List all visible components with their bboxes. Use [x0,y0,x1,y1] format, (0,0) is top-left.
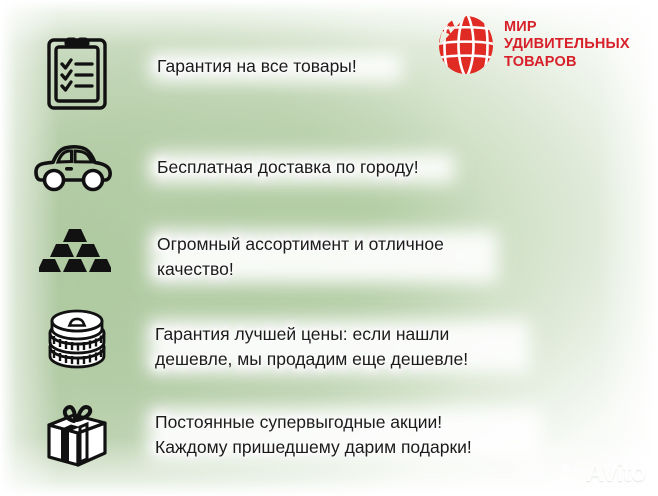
logo-line-1: МИР [504,19,630,37]
promo-banner: МИР УДИВИТЕЛЬНЫХ ТОВАРОВ Гарантия на все… [0,0,658,496]
feature-icon-gold-bars [32,227,118,277]
logo-line-3: ТОВАРОВ [504,54,630,72]
feature-text-3: Огромный ассортимент и отличное качество… [157,232,444,282]
clipboard-checklist-icon [44,32,110,112]
gift-box-icon [41,399,113,471]
feature-text-2: Бесплатная доставка по городу! [157,155,419,180]
feature-icon-gift [34,399,120,471]
feature-icon-clipboard [34,32,120,112]
logo-wordmark: МИР УДИВИТЕЛЬНЫХ ТОВАРОВ [504,19,630,72]
red-globe-icon [437,14,495,76]
company-logo: МИР УДИВИТЕЛЬНЫХ ТОВАРОВ [437,14,630,76]
avito-wordmark: Avito [586,461,646,486]
coin-stack-icon [42,309,112,379]
avito-watermark: Avito [560,461,646,486]
gold-bars-icon [39,227,111,277]
car-icon [34,142,112,194]
logo-line-2: УДИВИТЕЛЬНЫХ [504,36,630,54]
feature-text-5: Постоянные супервыгодные акции! Каждому … [155,410,472,460]
feature-icon-coins [34,309,120,379]
feature-icon-car [30,142,116,194]
feature-text-1: Гарантия на все товары! [157,54,357,79]
feature-text-4: Гарантия лучшей цены: если нашли дешевле… [155,322,468,372]
avito-dots-icon [560,463,582,485]
